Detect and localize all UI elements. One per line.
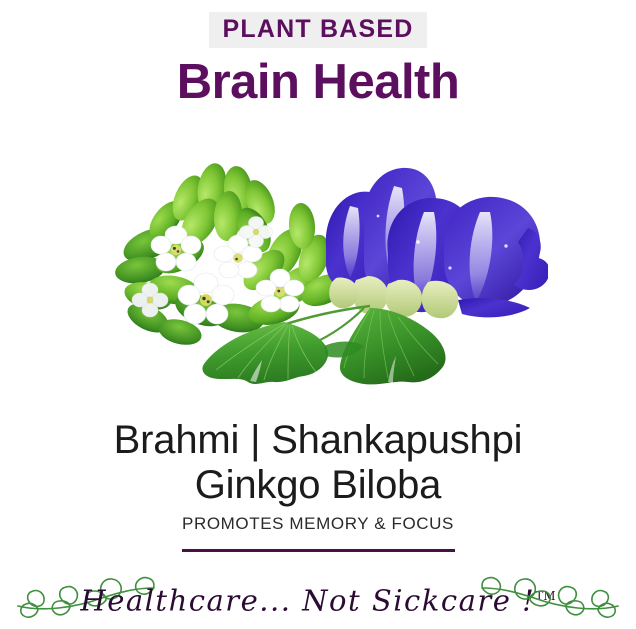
- eyebrow-container: PLANT BASED: [0, 12, 636, 48]
- herb-names: Brahmi | Shankapushpi Ginkgo Biloba: [0, 418, 636, 508]
- divider-rule: [182, 549, 455, 552]
- plant-photo: [88, 150, 548, 405]
- shankapushpi-blue-flowers: [326, 168, 548, 318]
- herb-names-line-1: Brahmi | Shankapushpi: [0, 418, 636, 463]
- page-title: Brain Health: [0, 58, 636, 107]
- leaf-vine-right-icon: [480, 572, 620, 620]
- benefit-text: PROMOTES MEMORY & FOCUS: [0, 514, 636, 534]
- eyebrow-label: PLANT BASED: [209, 12, 428, 48]
- plant-based-brain-health-poster: PLANT BASED Brain Health: [0, 0, 636, 629]
- tagline-text: Healthcare... Not Sickcare !: [80, 584, 535, 618]
- footer: Healthcare... Not Sickcare !TM: [0, 566, 636, 626]
- herb-names-line-2: Ginkgo Biloba: [0, 463, 636, 508]
